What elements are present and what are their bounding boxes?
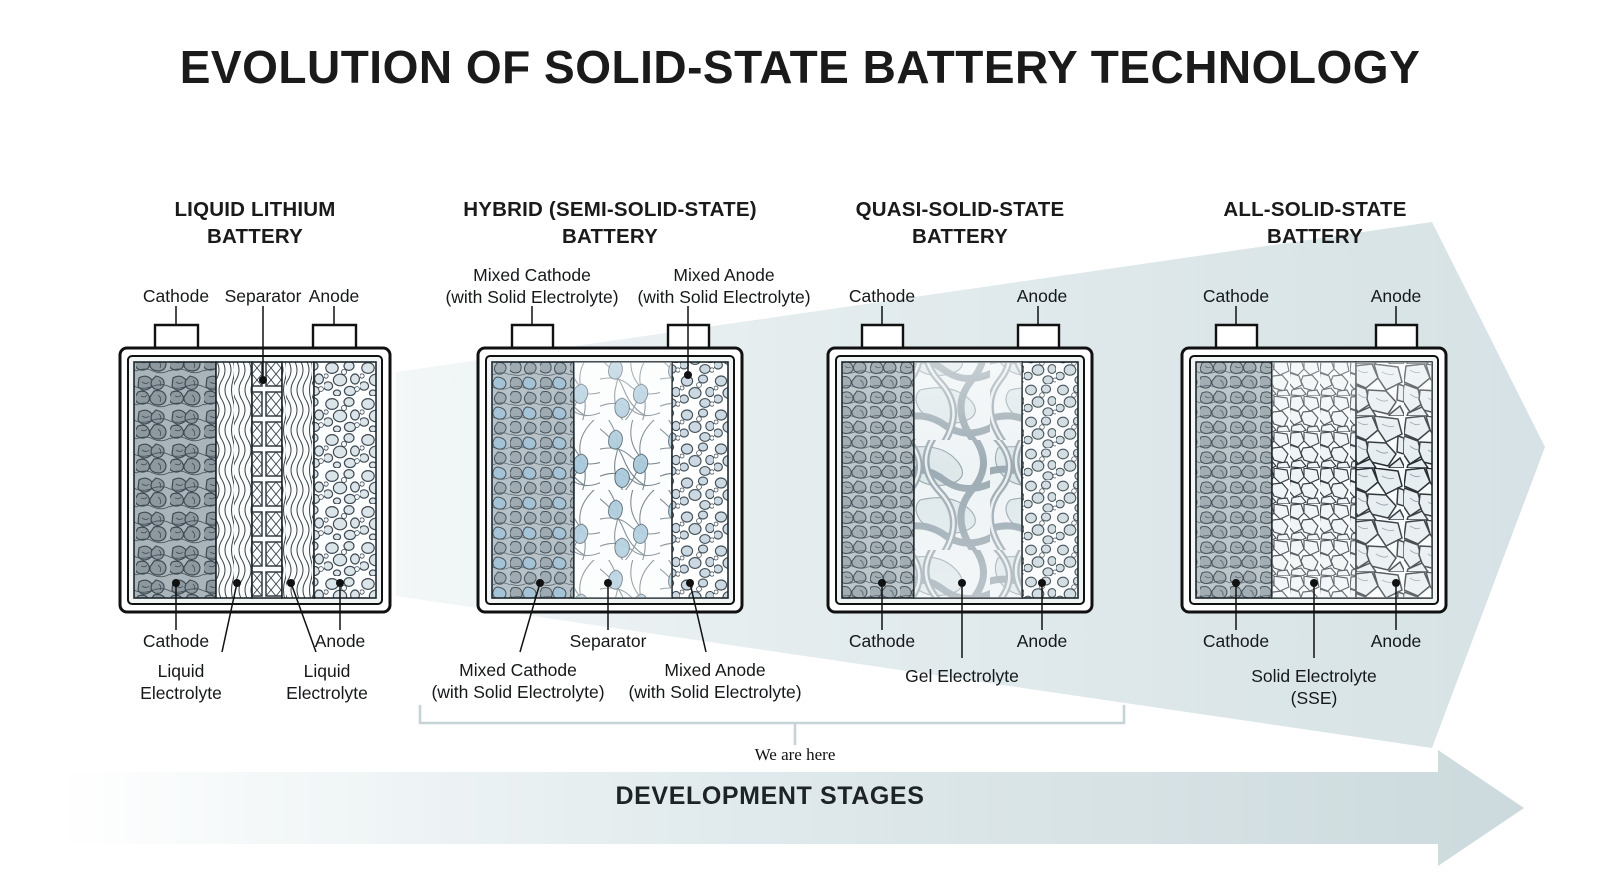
- panel-title-line2: BATTERY: [207, 225, 303, 248]
- label-anode-bottom-p3: Anode: [962, 631, 1122, 653]
- panel-title-line1: ALL-SOLID-STATE: [1223, 198, 1406, 221]
- panel-title-line2: BATTERY: [1267, 225, 1363, 248]
- label-solid-electrolyte-p4: Solid Electrolyte (SSE): [1229, 666, 1399, 710]
- panel-title-quasi-solid-state: QUASI-SOLID-STATE BATTERY: [790, 196, 1130, 250]
- panel-title-line2: BATTERY: [912, 225, 1008, 248]
- panel-title-line1: QUASI-SOLID-STATE: [856, 198, 1065, 221]
- label-cathode-top-p4: Cathode: [1156, 286, 1316, 308]
- label-anode-top-p1: Anode: [254, 286, 414, 308]
- panel-title-line1: LIQUID LITHIUM: [174, 198, 335, 221]
- label-anode-top-p3: Anode: [962, 286, 1122, 308]
- panel-title-line1: HYBRID (SEMI-SOLID-STATE): [463, 198, 757, 221]
- we-are-here-label: We are here: [695, 745, 895, 765]
- label-mixed-anode-bottom-p2: Mixed Anode (with Solid Electrolyte): [590, 660, 840, 704]
- label-anode-bottom-p4: Anode: [1316, 631, 1476, 653]
- infographic-canvas: EVOLUTION OF SOLID-STATE BATTERY TECHNOL…: [0, 0, 1600, 893]
- label-anode-top-p4: Anode: [1316, 286, 1476, 308]
- label-separator-bottom-p2: Separator: [528, 631, 688, 653]
- label-gel-electrolyte-p3: Gel Electrolyte: [892, 666, 1032, 688]
- development-stages-label: DEVELOPMENT STAGES: [560, 782, 980, 811]
- panel-title-line2: BATTERY: [562, 225, 658, 248]
- label-liquid-electrolyte-right-p1: Liquid Electrolyte: [272, 661, 382, 705]
- panel-title-all-solid-state: ALL-SOLID-STATE BATTERY: [1145, 196, 1485, 250]
- label-cathode-top-p3: Cathode: [802, 286, 962, 308]
- text-layer: EVOLUTION OF SOLID-STATE BATTERY TECHNOL…: [0, 0, 1600, 893]
- label-cathode-bottom-p3: Cathode: [802, 631, 962, 653]
- panel-title-hybrid: HYBRID (SEMI-SOLID-STATE) BATTERY: [430, 196, 790, 250]
- label-liquid-electrolyte-left-p1: Liquid Electrolyte: [126, 661, 236, 705]
- label-anode-bottom-p1: Anode: [260, 631, 420, 653]
- panel-title-liquid-lithium: LIQUID LITHIUM BATTERY: [85, 196, 425, 250]
- label-cathode-bottom-p1: Cathode: [96, 631, 256, 653]
- label-cathode-bottom-p4: Cathode: [1156, 631, 1316, 653]
- page-title: EVOLUTION OF SOLID-STATE BATTERY TECHNOL…: [0, 40, 1600, 94]
